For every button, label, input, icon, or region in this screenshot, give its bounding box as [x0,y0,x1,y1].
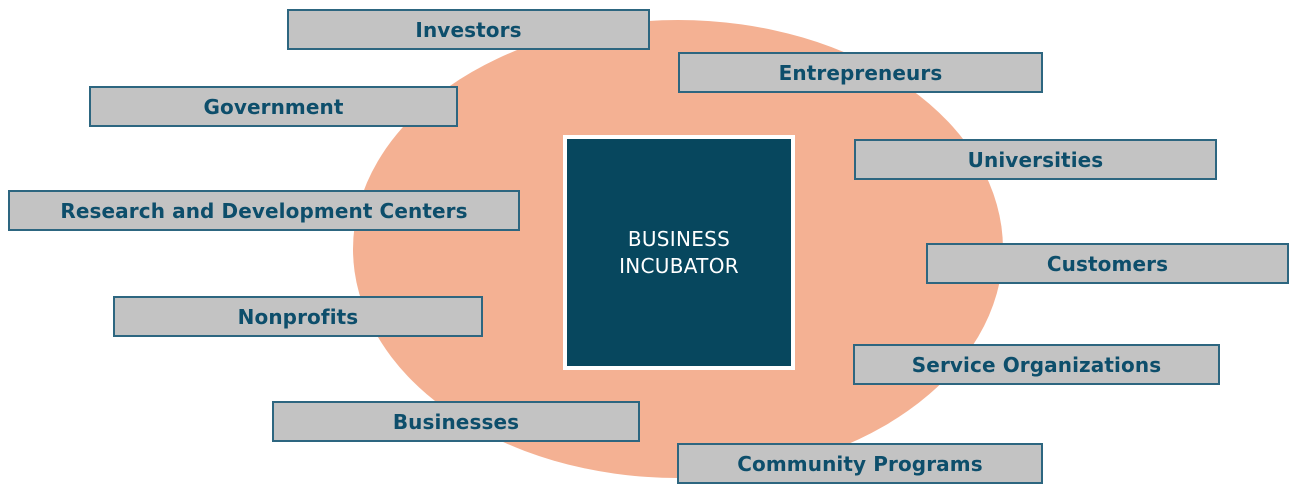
ecosystem-node-label: Nonprofits [238,305,359,329]
ecosystem-node-label: Businesses [393,410,519,434]
ecosystem-node-label: Government [203,95,343,119]
ecosystem-node-research-and-development-centers[interactable]: Research and Development Centers [8,190,520,231]
ecosystem-node-investors[interactable]: Investors [287,9,650,50]
ecosystem-node-entrepreneurs[interactable]: Entrepreneurs [678,52,1043,93]
business-incubator-core-label: BUSINESS INCUBATOR [619,226,739,280]
ecosystem-node-community-programs[interactable]: Community Programs [677,443,1043,484]
ecosystem-node-nonprofits[interactable]: Nonprofits [113,296,483,337]
diagram-canvas: BUSINESS INCUBATOR InvestorsEntrepreneur… [0,0,1300,494]
ecosystem-node-label: Community Programs [737,452,982,476]
ecosystem-node-label: Entrepreneurs [779,61,943,85]
ecosystem-node-label: Research and Development Centers [60,199,467,223]
ecosystem-node-government[interactable]: Government [89,86,458,127]
ecosystem-node-businesses[interactable]: Businesses [272,401,640,442]
ecosystem-node-customers[interactable]: Customers [926,243,1289,284]
ecosystem-node-label: Universities [968,148,1104,172]
ecosystem-node-universities[interactable]: Universities [854,139,1217,180]
ecosystem-node-service-organizations[interactable]: Service Organizations [853,344,1220,385]
business-incubator-core[interactable]: BUSINESS INCUBATOR [563,135,795,370]
ecosystem-node-label: Investors [415,18,521,42]
ecosystem-node-label: Service Organizations [912,353,1161,377]
ecosystem-node-label: Customers [1047,252,1168,276]
